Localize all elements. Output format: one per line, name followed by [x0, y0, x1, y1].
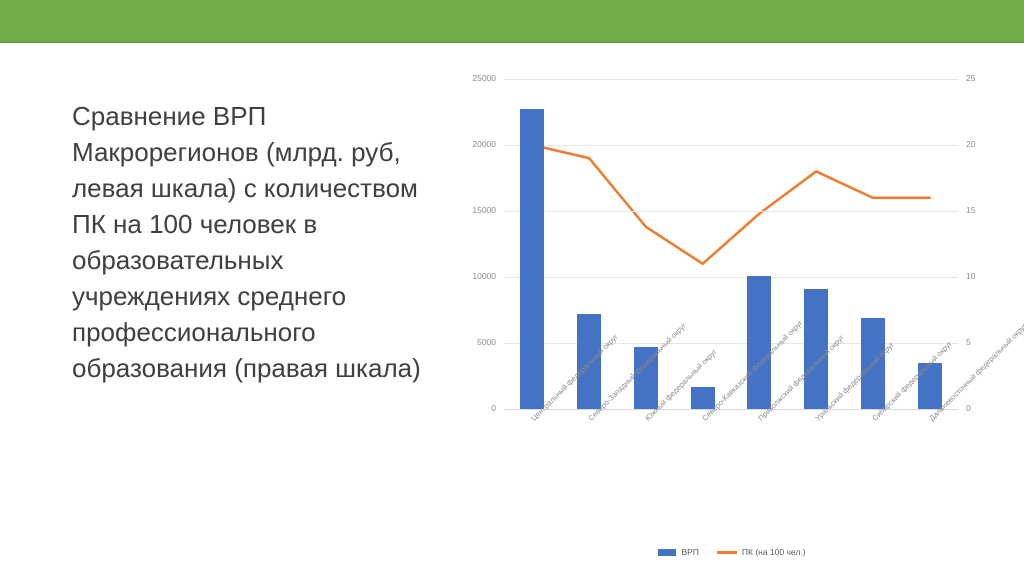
right-axis-tick: 25 [966, 74, 975, 83]
left-axis-tick: 15000 [472, 206, 496, 215]
left-axis-tick: 10000 [472, 272, 496, 281]
gridline [504, 277, 958, 278]
bar-0[interactable] [520, 109, 544, 409]
bar-4[interactable] [747, 276, 771, 409]
legend-label-pk: ПК (на 100 чел.) [742, 547, 806, 557]
legend-label-vrp: ВРП [681, 547, 698, 557]
chart-container: 00500051000010150001520000202500025 Цент… [440, 60, 1024, 574]
legend-line-swatch-icon [717, 551, 737, 554]
left-axis-tick: 0 [491, 404, 496, 413]
gridline [504, 79, 958, 80]
legend-bar-swatch-icon [658, 549, 676, 556]
line-series-pk [504, 79, 958, 409]
top-green-band [0, 0, 1024, 43]
left-axis-tick: 5000 [477, 338, 496, 347]
gridline [504, 211, 958, 212]
right-axis-tick: 15 [966, 206, 975, 215]
legend-item-pk[interactable]: ПК (на 100 чел.) [717, 547, 806, 557]
left-axis-tick: 20000 [472, 140, 496, 149]
right-axis-tick: 5 [966, 338, 971, 347]
legend-item-vrp[interactable]: ВРП [658, 547, 698, 557]
chart-legend: ВРП ПК (на 100 чел.) [440, 547, 1024, 557]
left-axis-tick: 25000 [472, 74, 496, 83]
chart-plot-area: 00500051000010150001520000202500025 [504, 79, 958, 409]
right-axis-tick: 20 [966, 140, 975, 149]
page-title: Сравнение ВРП Макрорегионов (млрд. руб, … [72, 98, 432, 386]
right-axis-tick: 0 [966, 404, 971, 413]
right-axis-tick: 10 [966, 272, 975, 281]
gridline [504, 145, 958, 146]
